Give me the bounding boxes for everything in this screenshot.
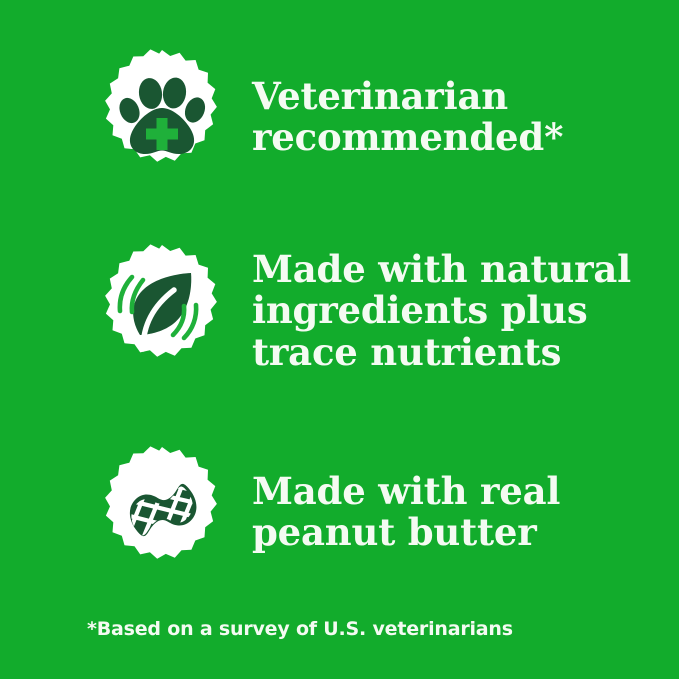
footnote-disclaimer: *Based on a survey of U.S. veterinarians — [87, 618, 513, 640]
feature-label-natural-ingredients: Made with natural ingredients plus trace… — [252, 249, 672, 373]
paw-with-medical-cross-icon — [96, 48, 228, 180]
badge-real-peanut-butter — [96, 445, 228, 577]
badge-veterinarian-recommended — [96, 48, 228, 180]
feature-line: Veterinarian — [252, 76, 672, 117]
feature-line: recommended* — [252, 117, 672, 158]
feature-line: trace nutrients — [252, 332, 672, 373]
feature-label-real-peanut-butter: Made with real peanut butter — [252, 471, 672, 554]
feature-label-veterinarian-recommended: Veterinarian recommended* — [252, 76, 672, 159]
feature-line: Made with natural — [252, 249, 672, 290]
badge-natural-ingredients — [96, 243, 228, 375]
peanut-shell-icon — [96, 445, 228, 577]
promo-panel: Veterinarian recommended* Made with natu… — [0, 0, 679, 679]
leaf-with-motion-lines-icon — [96, 243, 228, 375]
feature-line: ingredients plus — [252, 290, 672, 331]
feature-line: Made with real — [252, 471, 672, 512]
feature-line: peanut butter — [252, 512, 672, 553]
